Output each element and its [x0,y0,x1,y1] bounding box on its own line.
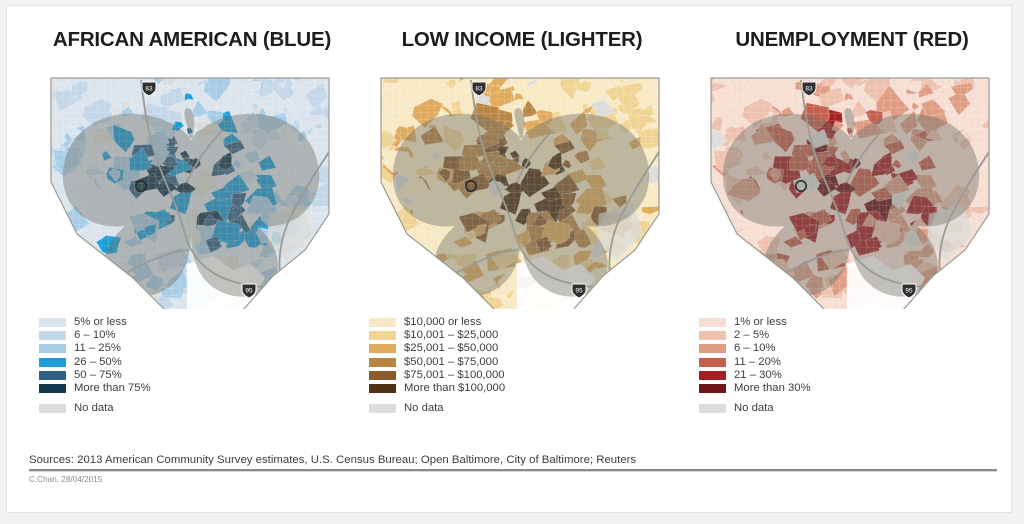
map-panel-low-income: LOW INCOME (LIGHTER) 8395 $10,000 or les… [359,28,685,448]
legend-label: $10,001 – $25,000 [404,330,498,341]
legend-swatch [369,318,396,327]
legend-swatch [39,384,66,393]
choropleth-svg-low-income: 8395 [367,64,677,309]
legend-item: 50 – 75% [39,369,339,382]
legend-item: $10,001 – $25,000 [369,329,669,342]
legend-swatch [39,371,66,380]
legend-swatch [369,331,396,340]
legend-swatch [699,344,726,353]
map-panel-unemployment: UNEMPLOYMENT (RED) 8395 1% or less 2 – 5… [689,28,1015,448]
legend-label: No data [734,403,774,414]
legend-label: More than 75% [74,383,151,394]
legend-item: 1% or less [699,316,999,329]
legend-swatch [39,358,66,367]
legend-label: 2 – 5% [734,330,769,341]
map-panel-african-american: AFRICAN AMERICAN (BLUE) 8395 5% or less … [29,28,355,448]
legend-label: No data [74,403,114,414]
legend-label: 21 – 30% [734,370,782,381]
legend-item: 6 – 10% [39,329,339,342]
legend-label: 1% or less [734,317,787,328]
legend-item: More than $100,000 [369,382,669,395]
legend-label: More than $100,000 [404,383,505,394]
legend-unemployment: 1% or less 2 – 5% 6 – 10% 11 – 20% 21 – … [699,316,999,415]
legend-swatch [699,371,726,380]
panel-title-african-american: AFRICAN AMERICAN (BLUE) [29,28,355,52]
legend-label: 50 – 75% [74,370,122,381]
svg-text:95: 95 [905,288,913,295]
legend-african-american: 5% or less 6 – 10% 11 – 25% 26 – 50% 50 … [39,316,339,415]
legend-swatch [699,358,726,367]
legend-item: 2 – 5% [699,329,999,342]
choropleth-svg-african-american: 8395 [37,64,347,309]
legend-swatch [369,344,396,353]
legend-swatch [39,318,66,327]
legend-swatch [699,404,726,413]
svg-text:83: 83 [475,86,483,93]
legend-item: 5% or less [39,316,339,329]
panel-title-unemployment: UNEMPLOYMENT (RED) [689,28,1015,52]
legend-label: $25,001 – $50,000 [404,343,498,354]
legend-item: More than 75% [39,382,339,395]
map-african-american[interactable]: 8395 [37,64,347,309]
legend-item: 21 – 30% [699,369,999,382]
legend-swatch [369,371,396,380]
legend-swatch [39,344,66,353]
footer-divider [29,469,997,471]
legend-item: More than 30% [699,382,999,395]
legend-item: $50,001 – $75,000 [369,356,669,369]
legend-item: 26 – 50% [39,356,339,369]
svg-text:83: 83 [805,86,813,93]
byline-text: C.Chan, 28/04/2015 [29,475,997,484]
legend-item-no-data: No data [699,402,999,415]
svg-text:95: 95 [245,288,253,295]
legend-label: More than 30% [734,383,811,394]
legend-swatch [39,404,66,413]
footer: Sources: 2013 American Community Survey … [29,454,997,484]
svg-text:95: 95 [575,288,583,295]
legend-item: $10,000 or less [369,316,669,329]
legend-swatch [699,331,726,340]
legend-label: 6 – 10% [74,330,115,341]
legend-label: 11 – 20% [734,357,781,368]
legend-label: 6 – 10% [734,343,775,354]
legend-label: $50,001 – $75,000 [404,357,498,368]
legend-item: $75,001 – $100,000 [369,369,669,382]
legend-item: 11 – 20% [699,356,999,369]
legend-item: 11 – 25% [39,342,339,355]
legend-label: $75,001 – $100,000 [404,370,505,381]
map-unemployment[interactable]: 8395 [697,64,1007,309]
map-low-income[interactable]: 8395 [367,64,677,309]
legend-item: $25,001 – $50,000 [369,342,669,355]
sources-text: Sources: 2013 American Community Survey … [29,454,997,466]
legend-swatch [699,384,726,393]
panel-title-low-income: LOW INCOME (LIGHTER) [359,28,685,52]
legend-swatch [699,318,726,327]
legend-label: $10,000 or less [404,317,481,328]
choropleth-svg-unemployment: 8395 [697,64,1007,309]
legend-swatch [369,358,396,367]
legend-label: No data [404,403,444,414]
legend-swatch [369,384,396,393]
legend-item: 6 – 10% [699,342,999,355]
legend-label: 11 – 25% [74,343,121,354]
legend-item-no-data: No data [39,402,339,415]
infographic-card: AFRICAN AMERICAN (BLUE) 8395 5% or less … [6,5,1012,513]
legend-label: 5% or less [74,317,127,328]
legend-low-income: $10,000 or less $10,001 – $25,000 $25,00… [369,316,669,415]
legend-item-no-data: No data [369,402,669,415]
svg-text:83: 83 [145,86,153,93]
legend-label: 26 – 50% [74,357,122,368]
legend-swatch [369,404,396,413]
legend-swatch [39,331,66,340]
